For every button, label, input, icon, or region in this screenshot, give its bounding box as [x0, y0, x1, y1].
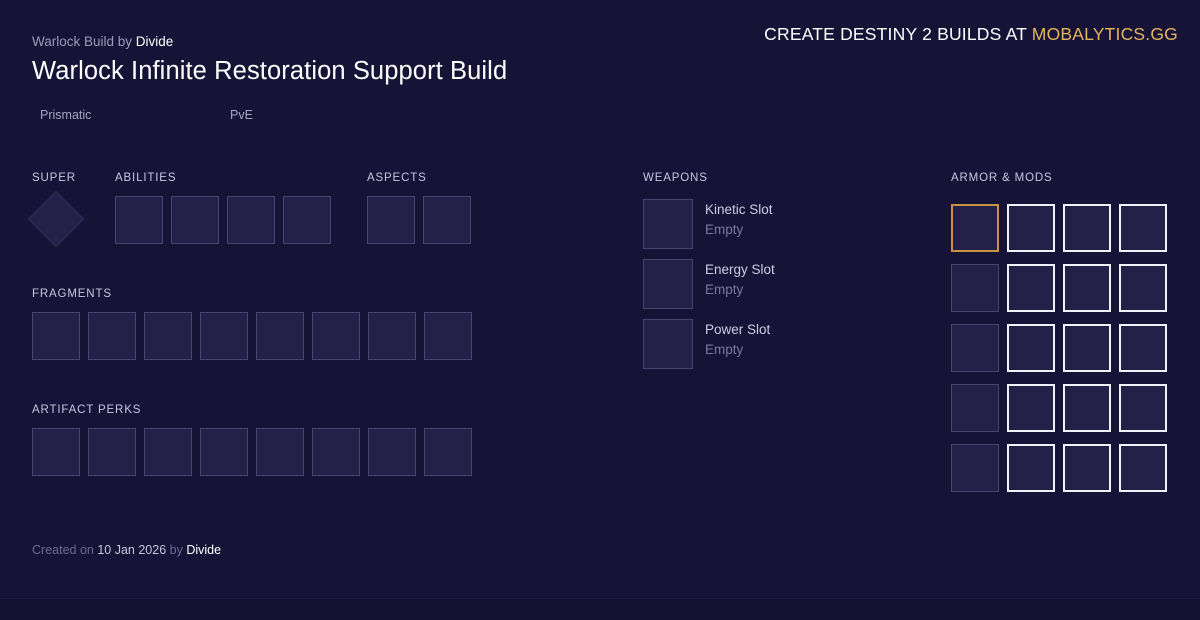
weapon-slot-name: Kinetic Slot	[705, 202, 773, 217]
build-card-page: CREATE DESTINY 2 BUILDS AT MOBALYTICS.GG…	[0, 0, 1200, 620]
weapon-icon-slot[interactable]	[643, 199, 693, 249]
armor-mod-slot-3-3[interactable]	[1119, 324, 1167, 372]
mobalytics-brand-link[interactable]: MOBALYTICS.GG	[1032, 24, 1178, 44]
footer-date: 10 Jan 2026	[97, 543, 166, 557]
ability-slot-4[interactable]	[283, 196, 331, 244]
armor-mod-slot-3-1[interactable]	[1007, 324, 1055, 372]
section-heading-super: SUPER	[32, 172, 76, 184]
tag-row: Prismatic PvE	[32, 108, 592, 128]
weapon-icon-slot[interactable]	[643, 319, 693, 369]
armor-slot-selected[interactable]	[951, 204, 999, 252]
armor-piece-slot-3[interactable]	[951, 324, 999, 372]
weapon-row[interactable]: Energy SlotEmpty	[643, 259, 903, 309]
artifact-perk-slot-8[interactable]	[424, 428, 472, 476]
section-heading-armor-mods: ARMOR & MODS	[951, 172, 1053, 184]
armor-mod-slot-2-2[interactable]	[1063, 264, 1111, 312]
fragment-slot-5[interactable]	[256, 312, 304, 360]
artifact-perk-slot-2[interactable]	[88, 428, 136, 476]
footer-credit: Created on 10 Jan 2026 by Divide	[32, 543, 221, 557]
footer-middle-text: by	[170, 543, 183, 557]
armor-mod-slot-4-2[interactable]	[1063, 384, 1111, 432]
promo-banner: CREATE DESTINY 2 BUILDS AT MOBALYTICS.GG	[764, 24, 1178, 45]
weapon-slot-name: Power Slot	[705, 322, 770, 337]
byline: Warlock Build by Divide	[32, 34, 173, 49]
armor-mod-slot-2-3[interactable]	[1119, 264, 1167, 312]
armor-mod-slot-5-1[interactable]	[1007, 444, 1055, 492]
armor-mod-slot-4-1[interactable]	[1007, 384, 1055, 432]
armor-mod-slot-5-3[interactable]	[1119, 444, 1167, 492]
fragment-slot-4[interactable]	[200, 312, 248, 360]
ability-slot-1[interactable]	[115, 196, 163, 244]
fragment-slot-6[interactable]	[312, 312, 360, 360]
ability-slot-2[interactable]	[171, 196, 219, 244]
armor-mod-slot-2-1[interactable]	[1007, 264, 1055, 312]
page-title: Warlock Infinite Restoration Support Bui…	[32, 57, 507, 86]
footer-author-link[interactable]: Divide	[186, 543, 221, 557]
ability-slot-3[interactable]	[227, 196, 275, 244]
weapon-slot-state: Empty	[705, 282, 743, 297]
promo-prefix-text: CREATE DESTINY 2 BUILDS AT	[764, 24, 1027, 44]
super-slot[interactable]	[28, 191, 85, 248]
section-heading-abilities: ABILITIES	[115, 172, 176, 184]
weapon-row[interactable]: Kinetic SlotEmpty	[643, 199, 903, 249]
byline-prefix-text: Warlock Build by	[32, 34, 132, 49]
bottom-bar-strip	[0, 599, 1200, 620]
artifact-perk-slot-4[interactable]	[200, 428, 248, 476]
weapon-slot-state: Empty	[705, 222, 743, 237]
fragment-slot-7[interactable]	[368, 312, 416, 360]
armor-mod-slot-5-2[interactable]	[1063, 444, 1111, 492]
fragment-slot-1[interactable]	[32, 312, 80, 360]
artifact-perk-slot-1[interactable]	[32, 428, 80, 476]
armor-mod-slot-4-3[interactable]	[1119, 384, 1167, 432]
armor-piece-slot-2[interactable]	[951, 264, 999, 312]
section-heading-artifact-perks: ARTIFACT PERKS	[32, 404, 141, 416]
weapon-slot-name: Energy Slot	[705, 262, 775, 277]
section-heading-fragments: FRAGMENTS	[32, 288, 112, 300]
artifact-perk-slot-5[interactable]	[256, 428, 304, 476]
artifact-perk-slot-6[interactable]	[312, 428, 360, 476]
tag-activity[interactable]: PvE	[230, 108, 253, 122]
fragment-slot-2[interactable]	[88, 312, 136, 360]
fragment-slot-3[interactable]	[144, 312, 192, 360]
byline-author-link[interactable]: Divide	[136, 34, 174, 49]
tag-subclass[interactable]: Prismatic	[40, 108, 91, 122]
weapon-row[interactable]: Power SlotEmpty	[643, 319, 903, 369]
weapon-slot-state: Empty	[705, 342, 743, 357]
weapon-icon-slot[interactable]	[643, 259, 693, 309]
aspect-slot-2[interactable]	[423, 196, 471, 244]
armor-piece-slot-4[interactable]	[951, 384, 999, 432]
footer-prefix-text: Created on	[32, 543, 94, 557]
section-heading-weapons: WEAPONS	[643, 172, 708, 184]
section-heading-aspects: ASPECTS	[367, 172, 427, 184]
armor-piece-slot-5[interactable]	[951, 444, 999, 492]
artifact-perk-slot-7[interactable]	[368, 428, 416, 476]
armor-mod-slot-1-3[interactable]	[1119, 204, 1167, 252]
armor-mod-slot-1-1[interactable]	[1007, 204, 1055, 252]
armor-mod-slot-1-2[interactable]	[1063, 204, 1111, 252]
aspect-slot-1[interactable]	[367, 196, 415, 244]
armor-mod-slot-3-2[interactable]	[1063, 324, 1111, 372]
artifact-perk-slot-3[interactable]	[144, 428, 192, 476]
fragment-slot-8[interactable]	[424, 312, 472, 360]
